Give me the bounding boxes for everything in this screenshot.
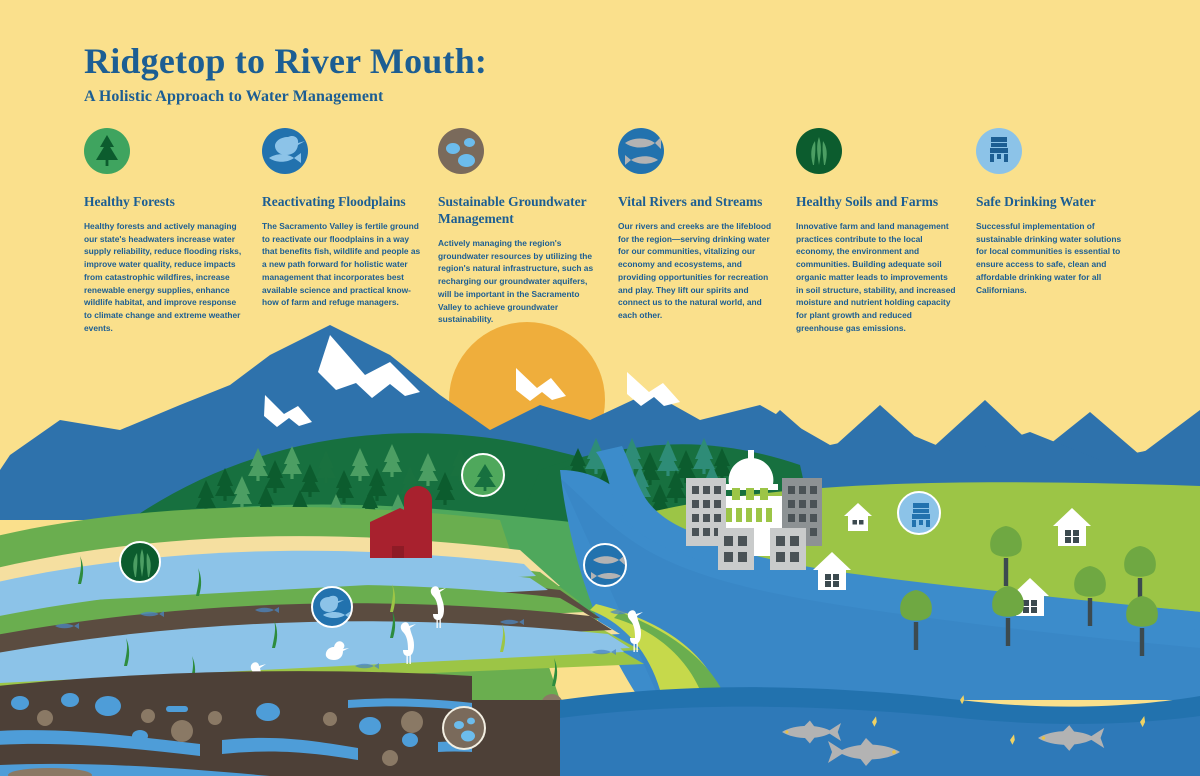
sustainable-groundwater-badge[interactable] <box>438 128 484 174</box>
header-section: Ridgetop to River Mouth: A Holistic Appr… <box>0 0 1200 325</box>
grass-blades-icon <box>807 136 831 166</box>
pine-tree-icon <box>95 135 119 167</box>
groundwater-marker[interactable] <box>442 706 486 750</box>
healthy-soils-marker[interactable] <box>119 541 161 583</box>
column-title: Safe Drinking Water <box>976 194 1141 211</box>
water-cooler-icon <box>989 137 1009 165</box>
drinking-water-marker[interactable] <box>897 491 941 535</box>
page-subtitle: A Holistic Approach to Water Management <box>84 88 383 106</box>
column-body: The Sacramento Valley is fertile ground … <box>262 220 422 309</box>
aquifer-dot <box>458 154 475 167</box>
infographic-page: Ridgetop to River Mouth: A Holistic Appr… <box>0 0 1200 776</box>
safe-drinking-water-badge[interactable] <box>976 128 1022 174</box>
column-healthy-soils: Healthy Soils and Farms Innovative farm … <box>796 128 966 335</box>
column-title: Healthy Soils and Farms <box>796 194 966 211</box>
page-title: Ridgetop to River Mouth: <box>84 40 487 82</box>
column-sustainable-groundwater: Sustainable Groundwater Management Activ… <box>438 128 623 326</box>
aquifer-dot <box>446 143 460 154</box>
column-body: Innovative farm and land management prac… <box>796 220 956 335</box>
column-title: Healthy Forests <box>84 194 244 211</box>
column-body: Our rivers and creeks are the lifeblood … <box>618 220 778 322</box>
column-healthy-forests: Healthy Forests Healthy forests and acti… <box>84 128 244 335</box>
column-safe-drinking-water: Safe Drinking Water Successful implement… <box>976 128 1141 296</box>
healthy-soils-badge[interactable] <box>796 128 842 174</box>
column-vital-rivers: Vital Rivers and Streams Our rivers and … <box>618 128 788 322</box>
column-body: Healthy forests and actively managing ou… <box>84 220 244 335</box>
floodplain-marker[interactable] <box>311 586 353 628</box>
two-fish-icon <box>618 128 664 174</box>
healthy-forests-badge[interactable] <box>84 128 130 174</box>
column-title: Vital Rivers and Streams <box>618 194 788 211</box>
column-reactivating-floodplains: Reactivating Floodplains The Sacramento … <box>262 128 422 309</box>
column-title: Sustainable Groundwater Management <box>438 194 623 228</box>
duck-and-fish-icon <box>262 128 308 174</box>
aquifer-dot <box>464 138 475 147</box>
forest-marker[interactable] <box>461 453 505 497</box>
vital-rivers-badge[interactable] <box>618 128 664 174</box>
rivers-marker[interactable] <box>583 543 627 587</box>
column-body: Actively managing the region's groundwat… <box>438 237 598 326</box>
reactivating-floodplains-badge[interactable] <box>262 128 308 174</box>
column-title: Reactivating Floodplains <box>262 194 422 211</box>
column-body: Successful implementation of sustainable… <box>976 220 1131 297</box>
